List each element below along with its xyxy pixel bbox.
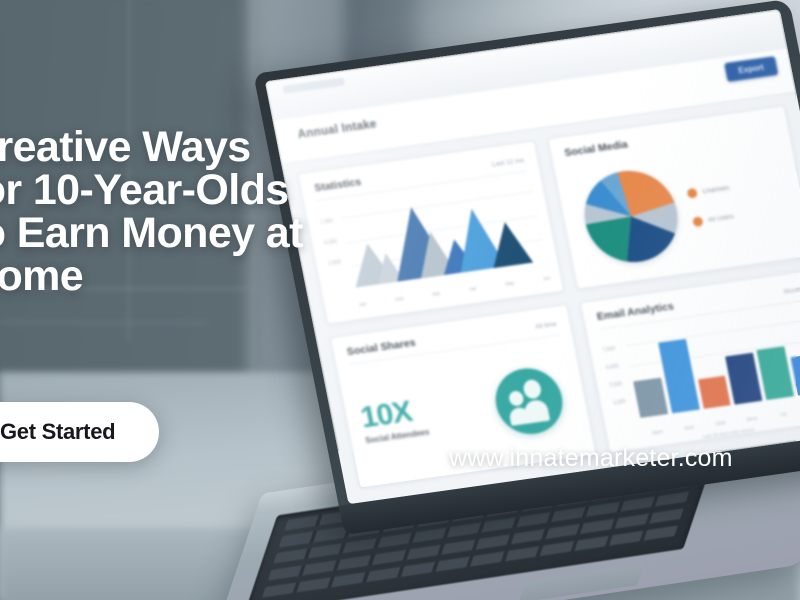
legend-item[interactable]: Channels — [687, 184, 730, 199]
card-subtitle: Last 12 mo — [492, 157, 525, 168]
headline-line-3: to Earn Money at — [0, 212, 436, 255]
card-social-media: Social Media Channels — [547, 105, 800, 289]
card-title: Social Shares — [346, 337, 417, 358]
people-group-icon — [490, 364, 568, 438]
pie-chart: Channels All Users — [565, 141, 800, 277]
card-title: Social Media — [563, 138, 628, 159]
person-head-icon — [522, 379, 543, 400]
y-tick-label: 7,500 — [602, 345, 616, 353]
x-tick-label: Sent — [675, 423, 704, 432]
legend-item[interactable]: All Users — [693, 212, 736, 227]
metric-value: 10X — [358, 395, 427, 433]
x-tick-label: Click — [706, 419, 735, 428]
area-peak — [485, 219, 533, 268]
card-email-analytics: Email Analytics Monthly 7,500 — [580, 269, 800, 453]
x-tick-label: Open — [643, 428, 672, 437]
x-tick-label: Jun — [543, 275, 551, 281]
bar-chart-bars — [624, 311, 800, 418]
card-subtitle: All time — [535, 321, 557, 331]
legend-label: Channels — [702, 185, 730, 195]
site-url-watermark: www.innatemarketer.com — [449, 444, 733, 473]
bar — [726, 352, 763, 404]
y-tick-label: 2,500 — [609, 381, 623, 389]
headline-line-4: Home — [0, 255, 436, 298]
headline-line-2: for 10-Year-Olds — [0, 169, 436, 212]
x-tick-label: Jan — [359, 301, 367, 307]
person-head-icon — [508, 390, 525, 407]
headline-line-1: Creative Ways — [0, 126, 436, 169]
get-started-label: Get Started — [0, 419, 115, 444]
card-subtitle: Monthly — [783, 286, 800, 296]
x-tick-label: Bnce — [738, 414, 767, 423]
bar — [633, 378, 668, 418]
legend-dot-icon — [693, 217, 704, 227]
y-tick-label: 5,000 — [605, 363, 619, 371]
x-tick-label: Ctr — [769, 410, 798, 419]
dashboard-tab-strip[interactable] — [282, 77, 345, 93]
legend-dot-icon — [687, 188, 698, 198]
y-tick-label: 1,000 — [612, 399, 626, 407]
metric-text: 10X Social Attendees — [358, 395, 430, 445]
legend-label: All Users — [708, 214, 735, 223]
x-tick-label: Apr — [469, 286, 477, 292]
page-title: Creative Ways for 10-Year-Olds to Earn M… — [0, 126, 436, 298]
x-tick-label: May — [505, 280, 515, 286]
bar — [757, 346, 794, 400]
get-started-button[interactable]: Get Started — [0, 402, 159, 462]
pie-chart-disc — [577, 165, 686, 268]
banner-canvas: Annual Intake Export Statistics Last 12 … — [0, 0, 800, 600]
pie-legend: Channels All Users — [687, 184, 736, 227]
bar — [698, 376, 731, 409]
